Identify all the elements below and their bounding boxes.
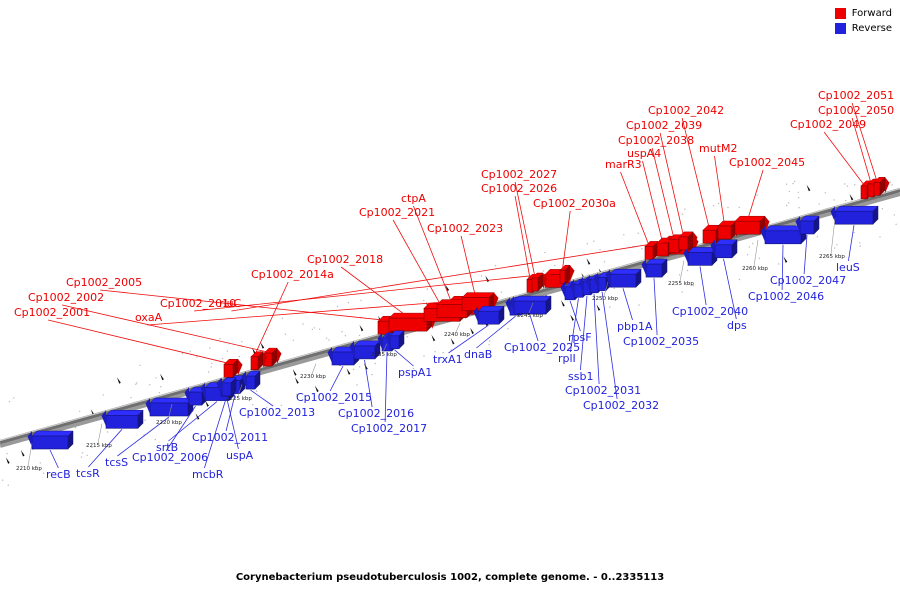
speckle-dot xyxy=(757,194,758,195)
gene-label-mutm2[interactable]: mutM2 xyxy=(699,143,738,154)
gene-label-cp1002-2046[interactable]: Cp1002_2046 xyxy=(748,291,824,302)
genome-map-viewer: Forward Reverse Corynebacterium pseudotu… xyxy=(0,0,900,600)
speckle-dot xyxy=(882,208,883,209)
speckle-dot xyxy=(293,340,294,341)
leader-line xyxy=(621,172,650,245)
speckle-dot xyxy=(211,366,212,367)
speckle-dot xyxy=(481,275,482,276)
gene-label-cp1002-2049[interactable]: Cp1002_2049 xyxy=(790,119,866,130)
speckle-dot xyxy=(427,288,428,289)
minor-feature-tick xyxy=(347,368,351,375)
gene-front-face xyxy=(800,221,814,234)
gene-front-face xyxy=(610,274,636,287)
speckle-dot xyxy=(371,374,372,375)
speckle-dot xyxy=(859,242,860,243)
speckle-dot xyxy=(2,480,3,481)
leader-line xyxy=(748,170,764,220)
gene-top-face xyxy=(835,206,878,211)
axis-tick-label: 2215 kbp xyxy=(86,443,112,449)
speckle-dot xyxy=(328,339,329,340)
speckle-dot xyxy=(845,200,846,201)
minor-feature-tick xyxy=(485,276,489,283)
speckle-dot xyxy=(844,183,845,184)
axis-tick-label: 2265 kbp xyxy=(819,254,845,260)
legend-label-forward: Forward xyxy=(852,8,892,19)
speckle-dot xyxy=(834,247,835,248)
speckle-dot xyxy=(713,205,714,206)
gene-front-face xyxy=(735,221,760,234)
gene-label-tcss[interactable]: tcsS xyxy=(105,457,128,468)
speckle-dot xyxy=(319,329,320,330)
gene-label-rluc[interactable]: rluC xyxy=(219,298,241,309)
leader-line xyxy=(623,288,633,320)
speckle-dot xyxy=(160,386,161,387)
gene-label-srtb[interactable]: srtB xyxy=(156,442,178,453)
gene-label-oxaa[interactable]: oxaA xyxy=(135,312,162,323)
gene-label-cp1002-2016[interactable]: Cp1002_2016 xyxy=(338,408,414,419)
gene-top-face xyxy=(150,398,193,403)
speckle-dot xyxy=(135,384,136,385)
speckle-dot xyxy=(356,384,357,385)
speckle-dot xyxy=(360,300,361,301)
gene-front-face xyxy=(765,231,801,244)
speckle-dot xyxy=(103,394,104,395)
speckle-dot xyxy=(891,184,892,185)
gene-top-face xyxy=(610,269,641,274)
speckle-dot xyxy=(219,338,220,339)
leader-line xyxy=(413,206,452,304)
gene-label-cp1002-2045[interactable]: Cp1002_2045 xyxy=(729,157,805,168)
leader-line xyxy=(255,282,289,356)
axis-tick-label: 2225 kbp xyxy=(226,396,252,402)
speckle-dot xyxy=(211,363,212,364)
speckle-dot xyxy=(609,306,610,307)
gene-front-face xyxy=(389,318,427,331)
gene-label-pbp1a[interactable]: pbp1A xyxy=(617,321,652,332)
speckle-dot xyxy=(747,254,748,255)
axis-tick-label: 2230 kbp xyxy=(300,374,326,380)
minor-feature-tick xyxy=(260,342,264,349)
speckle-dot xyxy=(241,341,242,342)
minor-feature-tick xyxy=(587,258,591,265)
speckle-dot xyxy=(423,355,424,356)
minor-feature-tick xyxy=(561,300,565,307)
speckle-dot xyxy=(43,473,44,474)
minor-feature-tick xyxy=(431,335,435,342)
gene-label-mcbr[interactable]: mcbR xyxy=(192,469,223,480)
gene-label-cp1002-2035[interactable]: Cp1002_2035 xyxy=(623,336,699,347)
minor-feature-tick xyxy=(293,369,297,376)
minor-feature-tick xyxy=(850,194,854,201)
speckle-dot xyxy=(13,397,14,398)
speckle-dot xyxy=(359,335,360,336)
axis-tick-label: 2260 kbp xyxy=(742,266,768,272)
speckle-dot xyxy=(222,358,223,359)
leader-line xyxy=(824,132,864,185)
speckle-dot xyxy=(348,302,349,303)
speckle-dot xyxy=(495,265,496,266)
speckle-dot xyxy=(501,292,502,293)
speckle-dot xyxy=(196,356,197,357)
speckle-dot xyxy=(182,353,183,354)
speckle-dot xyxy=(718,203,719,204)
gene-label-cp1002-2002[interactable]: Cp1002_2002 xyxy=(28,292,104,303)
speckle-dot xyxy=(285,334,286,335)
speckle-dot xyxy=(825,192,826,193)
gene-front-face xyxy=(251,357,258,370)
leader-line xyxy=(660,133,683,236)
minor-feature-tick xyxy=(784,256,788,263)
speckle-dot xyxy=(623,234,624,235)
leader-line xyxy=(563,211,571,269)
leader-line xyxy=(654,278,657,335)
gene-front-face xyxy=(868,184,874,197)
speckle-dot xyxy=(144,420,145,421)
speckle-dot xyxy=(341,331,342,332)
gene-front-face xyxy=(679,237,688,250)
speckle-dot xyxy=(890,182,891,183)
leader-line xyxy=(461,236,475,297)
axis-tick-label: 2235 kbp xyxy=(371,352,397,358)
minor-feature-tick xyxy=(21,450,25,457)
speckle-dot xyxy=(599,249,600,250)
gene-front-face xyxy=(688,252,712,265)
speckle-dot xyxy=(894,214,895,215)
gene-label-cp1002-2031[interactable]: Cp1002_2031 xyxy=(565,385,641,396)
gene-label-recb[interactable]: recB xyxy=(46,469,71,480)
gene-feature[interactable] xyxy=(28,431,74,449)
gene-front-face xyxy=(645,246,653,259)
gene-front-face xyxy=(332,352,354,365)
gene-label-ctpa[interactable]: ctpA xyxy=(401,193,426,204)
speckle-dot xyxy=(155,377,156,378)
legend-label-reverse: Reverse xyxy=(852,23,892,34)
speckle-dot xyxy=(208,371,209,372)
gene-label-uspa[interactable]: uspA xyxy=(226,450,253,461)
speckle-dot xyxy=(375,363,376,364)
gene-label-cp1002-2038[interactable]: Cp1002_2038 xyxy=(618,135,694,146)
speckle-dot xyxy=(794,181,795,182)
gene-front-face xyxy=(32,436,68,449)
gene-label-cp1002-2011[interactable]: Cp1002_2011 xyxy=(192,432,268,443)
axis-tick-label: 2220 kbp xyxy=(156,420,182,426)
legend-swatch-forward xyxy=(835,8,846,19)
speckle-dot xyxy=(256,391,257,392)
gene-label-cp1002-2005[interactable]: Cp1002_2005 xyxy=(66,277,142,288)
speckle-dot xyxy=(282,318,283,319)
speckle-dot xyxy=(641,248,642,249)
gene-front-face xyxy=(478,311,499,324)
gene-label-trxa1[interactable]: trxA1 xyxy=(433,354,463,365)
minor-feature-tick xyxy=(295,377,299,384)
leader-line xyxy=(50,450,58,468)
speckle-dot xyxy=(87,455,88,456)
gene-front-face xyxy=(598,278,606,291)
axis-tick-label: 2250 kbp xyxy=(592,296,618,302)
speckle-dot xyxy=(507,328,508,329)
gene-label-cp1002-2015[interactable]: Cp1002_2015 xyxy=(296,392,372,403)
speckle-dot xyxy=(544,252,545,253)
speckle-dot xyxy=(314,327,315,328)
gene-front-face xyxy=(532,278,538,291)
speckle-dot xyxy=(139,365,140,366)
gene-feature[interactable] xyxy=(642,259,668,277)
gene-front-face xyxy=(560,270,565,283)
speckle-dot xyxy=(854,184,855,185)
gene-label-leus[interactable]: leuS xyxy=(836,262,860,273)
speckle-dot xyxy=(554,265,555,266)
gene-front-face xyxy=(150,403,188,416)
speckle-dot xyxy=(209,347,210,348)
speckle-dot xyxy=(788,202,789,203)
speckle-dot xyxy=(312,329,313,330)
speckle-dot xyxy=(130,397,131,398)
gene-front-face xyxy=(646,264,662,277)
gene-front-face xyxy=(224,364,233,377)
gene-top-face xyxy=(32,431,73,436)
speckle-dot xyxy=(895,224,896,225)
legend-swatch-reverse xyxy=(835,23,846,34)
speckle-dot xyxy=(489,340,490,341)
speckle-dot xyxy=(682,213,683,214)
gene-label-cp1002-2051[interactable]: Cp1002_2051 xyxy=(818,90,894,101)
gene-front-face xyxy=(669,240,679,253)
gene-label-dnab[interactable]: dnaB xyxy=(464,349,492,360)
leader-line xyxy=(330,366,343,391)
speckle-dot xyxy=(759,258,760,259)
leader-line xyxy=(515,196,530,278)
legend-item-forward: Forward xyxy=(835,6,892,21)
speckle-dot xyxy=(727,207,728,208)
gene-label-cp1002-2047[interactable]: Cp1002_2047 xyxy=(770,275,846,286)
minor-feature-tick xyxy=(596,304,600,311)
gene-front-face xyxy=(718,226,731,239)
speckle-dot xyxy=(614,288,615,289)
speckle-dot xyxy=(749,246,750,247)
leader-line xyxy=(700,266,706,305)
speckle-dot xyxy=(833,199,834,200)
gene-label-rpsf[interactable]: rpsF xyxy=(568,332,592,343)
leader-line xyxy=(652,148,674,239)
gene-front-face xyxy=(246,376,255,389)
speckle-dot xyxy=(798,197,799,198)
axis-tick-label: 2210 kbp xyxy=(16,466,42,472)
gene-label-ssb1[interactable]: ssb1 xyxy=(568,371,593,382)
speckle-dot xyxy=(136,382,137,383)
gene-label-cp1002-2017[interactable]: Cp1002_2017 xyxy=(351,423,427,434)
gene-label-cp1002-2013[interactable]: Cp1002_2013 xyxy=(239,407,315,418)
speckle-dot xyxy=(819,203,820,204)
speckle-dot xyxy=(227,350,228,351)
gene-front-face xyxy=(861,186,867,199)
gene-top-face xyxy=(462,293,494,298)
speckle-dot xyxy=(847,185,848,186)
speckle-dot xyxy=(593,241,594,242)
leader-line xyxy=(715,156,725,225)
leader-line xyxy=(515,182,535,277)
gene-label-cp1002-2014a[interactable]: Cp1002_2014a xyxy=(251,269,334,280)
speckle-dot xyxy=(423,300,424,301)
minor-feature-tick xyxy=(470,328,474,335)
gene-label-cp1002-2030a[interactable]: Cp1002_2030a xyxy=(533,198,616,209)
leader-line xyxy=(643,161,663,242)
gene-label-cp1002-2021[interactable]: Cp1002_2021 xyxy=(359,207,435,218)
speckle-dot xyxy=(75,427,76,428)
leader-line xyxy=(848,225,854,261)
gene-front-face xyxy=(189,392,202,405)
leader-line xyxy=(251,390,274,406)
gene-label-tcsr[interactable]: tcsR xyxy=(76,468,100,479)
gene-top-face xyxy=(514,296,551,301)
minor-feature-tick xyxy=(160,374,164,381)
speckle-dot xyxy=(853,232,854,233)
speckle-dot xyxy=(879,236,880,237)
speckle-dot xyxy=(239,356,240,357)
leader-line xyxy=(48,320,228,363)
speckle-dot xyxy=(679,274,680,275)
speckle-dot xyxy=(82,452,83,453)
speckle-dot xyxy=(792,183,793,184)
speckle-dot xyxy=(684,209,685,210)
speckle-dot xyxy=(798,207,799,208)
speckle-dot xyxy=(604,261,605,262)
gene-label-rpli[interactable]: rplI xyxy=(558,353,576,364)
axis-tick-mark xyxy=(98,424,102,443)
minor-feature-tick xyxy=(6,457,10,464)
speckle-dot xyxy=(159,392,160,393)
gene-label-cp1002-2032[interactable]: Cp1002_2032 xyxy=(583,400,659,411)
legend-item-reverse: Reverse xyxy=(835,21,892,36)
leader-line xyxy=(804,235,807,274)
speckle-dot xyxy=(326,338,327,339)
page-caption: Corynebacterium pseudotuberculosis 1002,… xyxy=(0,572,900,583)
axis-tick-mark xyxy=(680,261,684,281)
speckle-dot xyxy=(786,184,787,185)
minor-feature-tick xyxy=(451,338,455,345)
speckle-dot xyxy=(79,411,80,412)
leader-line xyxy=(395,350,414,366)
gene-label-cp1002-2001[interactable]: Cp1002_2001 xyxy=(14,307,90,318)
speckle-dot xyxy=(353,369,354,370)
gene-top-face xyxy=(106,410,143,415)
speckle-dot xyxy=(8,485,9,486)
speckle-dot xyxy=(149,384,150,385)
speckle-dot xyxy=(687,270,688,271)
minor-feature-tick xyxy=(570,314,574,321)
gene-front-face xyxy=(222,383,231,396)
leader-line xyxy=(570,301,580,331)
gene-front-face xyxy=(715,245,732,258)
speckle-dot xyxy=(345,335,346,336)
axis-tick-label: 2245 kbp xyxy=(517,313,543,319)
speckle-dot xyxy=(739,207,740,208)
minor-feature-tick xyxy=(807,185,811,192)
axis-tick-mark xyxy=(28,443,32,466)
speckle-dot xyxy=(81,456,82,457)
axis-tick-label: 2255 kbp xyxy=(668,281,694,287)
speckle-dot xyxy=(40,462,41,463)
gene-label-cp1002-2040[interactable]: Cp1002_2040 xyxy=(672,306,748,317)
speckle-dot xyxy=(488,344,489,345)
gene-label-cp1002-2023[interactable]: Cp1002_2023 xyxy=(427,223,503,234)
speckle-dot xyxy=(9,401,10,402)
gene-direction-arrow xyxy=(885,177,890,193)
gene-front-face xyxy=(835,211,873,224)
speckle-dot xyxy=(543,270,544,271)
gene-front-face xyxy=(390,336,399,349)
axis-tick-mark xyxy=(754,240,758,266)
minor-feature-tick xyxy=(117,377,121,384)
speckle-dot xyxy=(190,351,191,352)
speckle-dot xyxy=(752,243,753,244)
speckle-dot xyxy=(337,306,338,307)
speckle-dot xyxy=(107,431,108,432)
gene-direction-arrow xyxy=(570,265,575,281)
speckle-dot xyxy=(817,236,818,237)
speckle-dot xyxy=(587,243,588,244)
gene-label-uspa4[interactable]: uspA4 xyxy=(627,148,661,159)
speckle-dot xyxy=(638,233,639,234)
speckle-dot xyxy=(798,192,799,193)
speckle-dot xyxy=(302,323,303,324)
gene-label-pspa1[interactable]: pspA1 xyxy=(398,367,432,378)
speckle-dot xyxy=(407,336,408,337)
gene-label-cp1002-2042[interactable]: Cp1002_2042 xyxy=(648,105,724,116)
axis-tick-mark xyxy=(312,364,316,374)
leader-line xyxy=(62,305,268,352)
gene-label-cp1002-2050[interactable]: Cp1002_2050 xyxy=(818,105,894,116)
speckle-dot xyxy=(778,263,779,264)
gene-front-face xyxy=(874,182,880,195)
speckle-dot xyxy=(836,244,837,245)
speckle-dot xyxy=(739,279,740,280)
speckle-dot xyxy=(786,205,787,206)
gene-label-dps[interactable]: dps xyxy=(727,320,747,331)
speckle-dot xyxy=(638,304,639,305)
gene-label-cp1002-2039[interactable]: Cp1002_2039 xyxy=(626,120,702,131)
gene-front-face xyxy=(106,415,138,428)
gene-front-face xyxy=(657,243,668,256)
minor-feature-tick xyxy=(360,325,364,332)
legend: Forward Reverse xyxy=(835,6,892,36)
speckle-dot xyxy=(681,291,682,292)
gene-label-marr3[interactable]: marR3 xyxy=(605,159,642,170)
gene-label-cp1002-2026[interactable]: Cp1002_2026 xyxy=(481,183,557,194)
speckle-dot xyxy=(789,191,790,192)
speckle-dot xyxy=(359,366,360,367)
speckle-dot xyxy=(6,453,7,454)
axis-tick-mark xyxy=(456,323,460,332)
axis-tick-label: 2240 kbp xyxy=(444,332,470,338)
speckle-dot xyxy=(860,245,861,246)
gene-feature[interactable] xyxy=(831,206,879,224)
gene-label-cp1002-2018[interactable]: Cp1002_2018 xyxy=(307,254,383,265)
gene-label-cp1002-2027[interactable]: Cp1002_2027 xyxy=(481,169,557,180)
gene-feature[interactable] xyxy=(146,398,194,416)
